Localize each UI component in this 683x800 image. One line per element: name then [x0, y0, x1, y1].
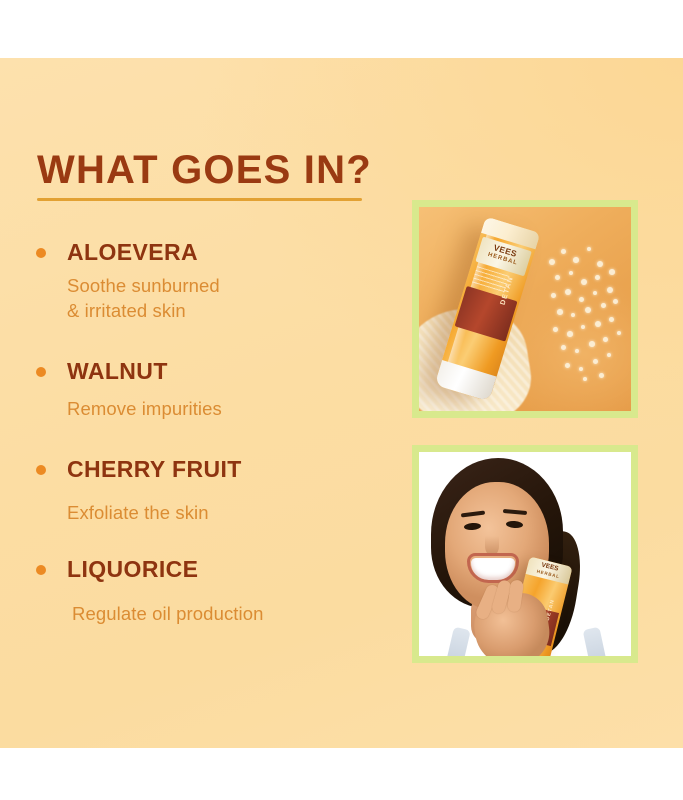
ingredient-list: ALOEVERA Soothe sunburned& irritated ski…	[36, 240, 386, 627]
ingredient-row: WALNUT	[36, 359, 386, 383]
ingredient-name: WALNUT	[67, 359, 168, 383]
ingredient-name: LIQUORICE	[67, 557, 198, 581]
list-item: WALNUT Remove impurities	[36, 359, 386, 422]
top-white-band	[0, 0, 683, 58]
list-item: LIQUORICE Regulate oil production	[36, 557, 386, 627]
list-item: ALOEVERA Soothe sunburned& irritated ski…	[36, 240, 386, 323]
page-title: WHAT GOES IN?	[37, 150, 372, 190]
gypsophila-sprig-icon	[543, 241, 627, 379]
bullet-icon	[36, 367, 46, 377]
ingredient-row: LIQUORICE	[36, 557, 386, 581]
ingredient-row: ALOEVERA	[36, 240, 386, 264]
bullet-icon	[36, 465, 46, 475]
infographic-canvas: WHAT GOES IN? ALOEVERA Soothe sunburned&…	[0, 0, 683, 800]
ingredient-description: Soothe sunburned& irritated skin	[67, 274, 386, 323]
ingredient-name: CHERRY FRUIT	[67, 457, 242, 481]
ingredient-name: ALOEVERA	[67, 240, 198, 264]
ingredient-description: Remove impurities	[67, 397, 386, 421]
ingredient-description: Exfoliate the skin	[67, 501, 386, 525]
model-scene: VEES HERBAL Face Wash DETAN	[419, 452, 631, 656]
bullet-icon	[36, 248, 46, 258]
list-item: CHERRY FRUIT Exfoliate the skin	[36, 457, 386, 526]
product-photo: VEES HERBAL Face Wash DETAN	[419, 207, 631, 411]
product-photo-card: VEES HERBAL Face Wash DETAN	[412, 200, 638, 418]
ingredient-description: Regulate oil production	[72, 602, 386, 626]
bottom-white-band	[0, 748, 683, 800]
bullet-icon	[36, 565, 46, 575]
model-photo: VEES HERBAL Face Wash DETAN	[419, 452, 631, 656]
model-photo-card: VEES HERBAL Face Wash DETAN	[412, 445, 638, 663]
title-underline	[37, 198, 362, 201]
ingredient-row: CHERRY FRUIT	[36, 457, 386, 481]
